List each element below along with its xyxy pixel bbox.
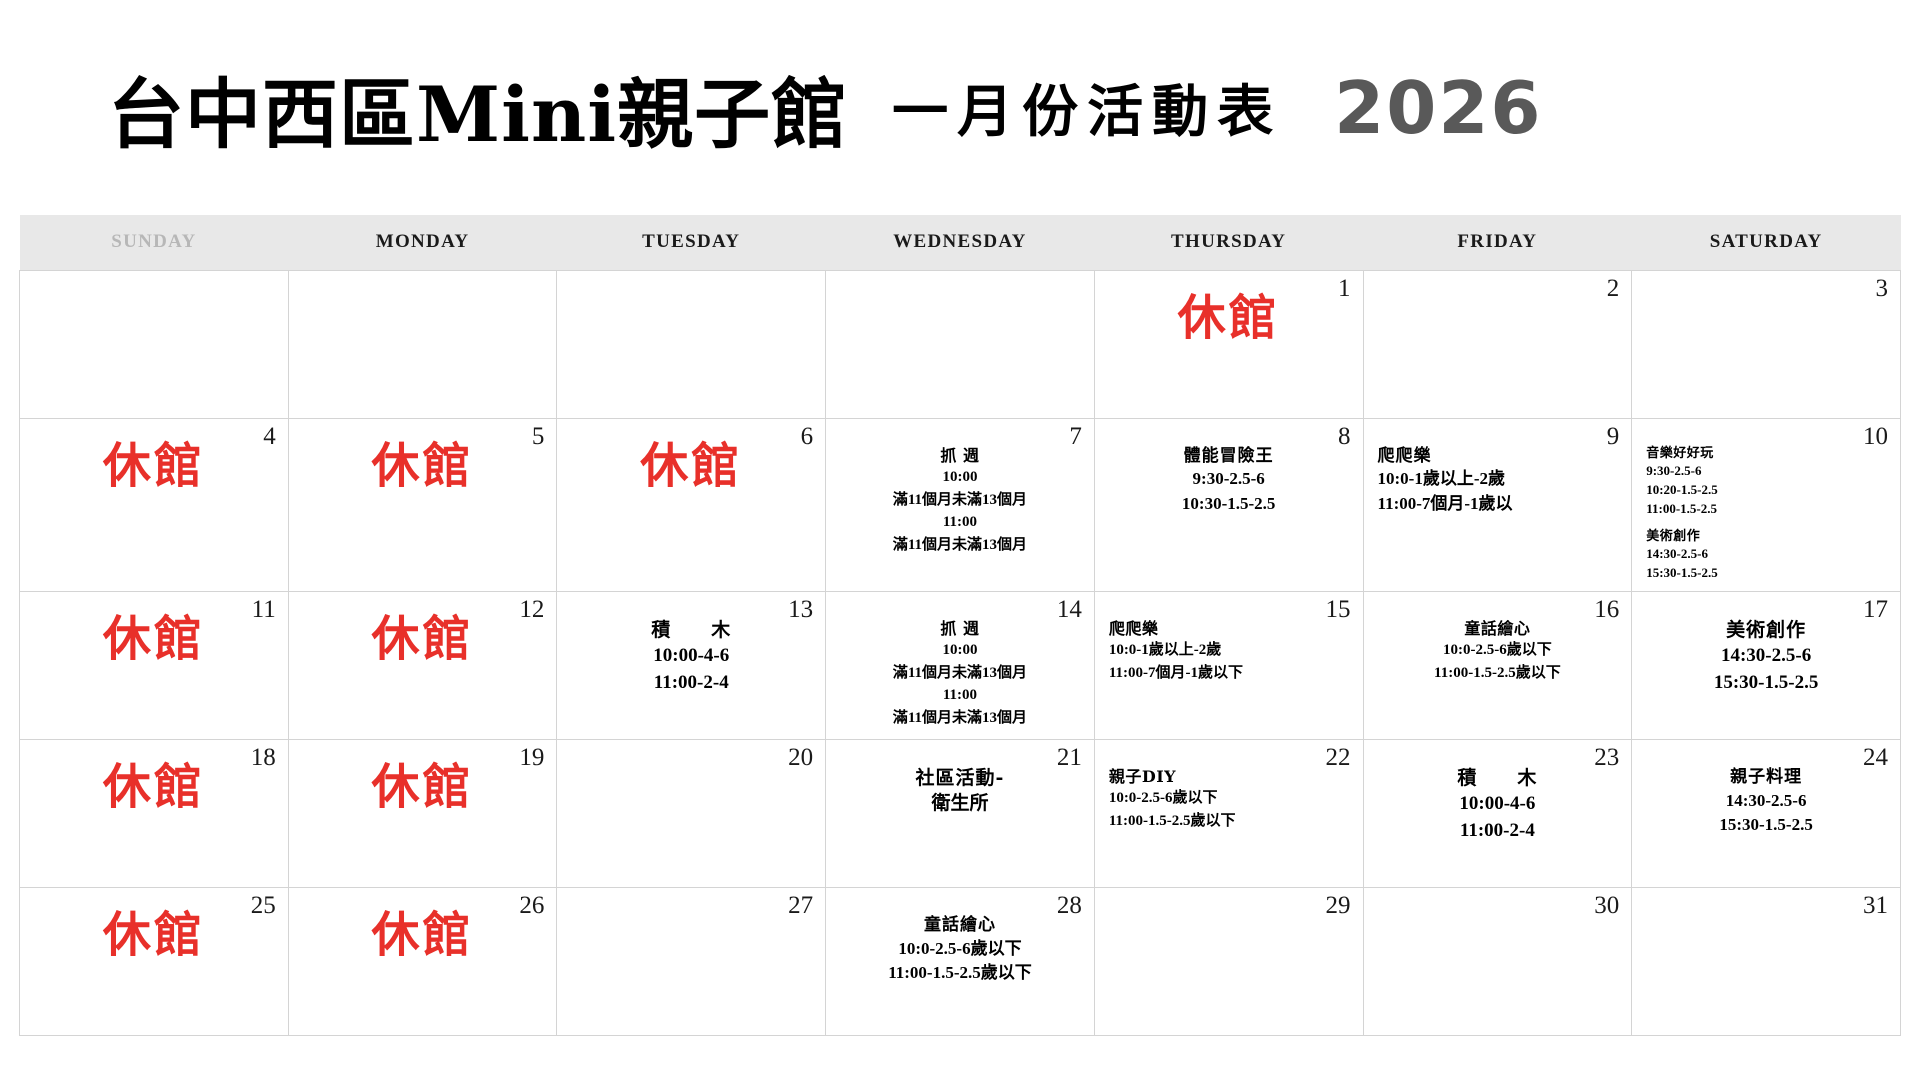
day-events: 抓 週10:00滿11個月未滿13個月11:00滿11個月未滿13個月 xyxy=(826,419,1094,565)
day-number: 17 xyxy=(1863,596,1888,624)
event-detail-line: 10:0-2.5-6歲以下 xyxy=(834,937,1086,962)
closed-label: 休館 xyxy=(289,740,557,812)
event-block[interactable]: 美術創作14:30-2.5-615:30-1.5-2.5 xyxy=(1640,618,1892,698)
event-detail-line: 14:30-2.5-6 xyxy=(1640,789,1892,814)
event-block[interactable]: 親子料理14:30-2.5-615:30-1.5-2.5 xyxy=(1640,766,1892,838)
calendar-day-cell-empty[interactable] xyxy=(826,270,1095,418)
event-title: 親子料理 xyxy=(1640,766,1892,789)
day-number: 28 xyxy=(1057,892,1082,920)
event-block[interactable]: 抓 週10:00滿11個月未滿13個月11:00滿11個月未滿13個月 xyxy=(834,445,1086,557)
day-events: 親子料理14:30-2.5-615:30-1.5-2.5 xyxy=(1632,740,1900,846)
calendar-day-cell-8[interactable]: 8體能冒險王9:30-2.5-610:30-1.5-2.5 xyxy=(1094,418,1363,591)
calendar-week-row: 25休館26休館2728童話繪心10:0-2.5-6歲以下11:00-1.5-2… xyxy=(20,887,1901,1035)
weekday-header-friday: FRIDAY xyxy=(1363,215,1632,270)
calendar-day-cell-empty[interactable] xyxy=(288,270,557,418)
event-detail-line: 10:0-2.5-6歲以下 xyxy=(1109,787,1355,810)
event-block[interactable]: 音樂好好玩9:30-2.5-610:20-1.5-2.511:00-1.5-2.… xyxy=(1646,445,1892,519)
calendar-day-cell-10[interactable]: 10音樂好好玩9:30-2.5-610:20-1.5-2.511:00-1.5-… xyxy=(1632,418,1901,591)
calendar-week-row: 4休館5休館6休館7抓 週10:00滿11個月未滿13個月11:00滿11個月未… xyxy=(20,418,1901,591)
event-title: 社區活動- xyxy=(834,766,1086,792)
event-detail-line: 10:00 xyxy=(834,466,1086,489)
event-detail-line: 衛生所 xyxy=(834,791,1086,818)
event-title: 積 木 xyxy=(565,618,817,644)
calendar-day-cell-5[interactable]: 5休館 xyxy=(288,418,557,591)
day-events: 親子DIY10:0-2.5-6歲以下11:00-1.5-2.5歲以下 xyxy=(1095,740,1363,841)
day-events: 積 木10:00-4-611:00-2-4 xyxy=(1364,740,1632,854)
event-detail-line: 9:30-2.5-6 xyxy=(1646,462,1892,481)
day-number: 22 xyxy=(1326,744,1351,772)
event-title: 爬爬樂 xyxy=(1109,618,1355,640)
calendar-page: 台中西區Mini親子館 一月份活動表 2026 SUNDAYMONDAYTUES… xyxy=(0,0,1920,1080)
weekday-header-row: SUNDAYMONDAYTUESDAYWEDNESDAYTHURSDAYFRID… xyxy=(20,215,1901,270)
weekday-header-tuesday: TUESDAY xyxy=(557,215,826,270)
calendar-day-cell-18[interactable]: 18休館 xyxy=(20,739,289,887)
event-detail-line: 15:30-1.5-2.5 xyxy=(1640,670,1892,697)
event-block[interactable]: 美術創作14:30-2.5-615:30-1.5-2.5 xyxy=(1646,528,1892,583)
calendar-day-cell-14[interactable]: 14抓 週10:00滿11個月未滿13個月11:00滿11個月未滿13個月 xyxy=(826,591,1095,739)
calendar-day-cell-28[interactable]: 28童話繪心10:0-2.5-6歲以下11:00-1.5-2.5歲以下 xyxy=(826,887,1095,1035)
event-title: 童話繪心 xyxy=(834,914,1086,937)
day-events: 積 木10:00-4-611:00-2-4 xyxy=(557,592,825,706)
event-detail-line: 11:00-2-4 xyxy=(565,670,817,697)
event-detail-line: 10:00 xyxy=(834,639,1086,662)
day-number: 19 xyxy=(519,744,544,772)
weekday-header-saturday: SATURDAY xyxy=(1632,215,1901,270)
day-events: 抓 週10:00滿11個月未滿13個月11:00滿11個月未滿13個月 xyxy=(826,592,1094,738)
event-title: 抓 週 xyxy=(834,445,1086,467)
day-number: 13 xyxy=(788,596,813,624)
calendar-week-row: 1休館23 xyxy=(20,270,1901,418)
day-events: 社區活動-衛生所 xyxy=(826,740,1094,827)
calendar-day-cell-16[interactable]: 16童話繪心10:0-2.5-6歲以下11:00-1.5-2.5歲以下 xyxy=(1363,591,1632,739)
day-number: 25 xyxy=(251,892,276,920)
closed-label: 休館 xyxy=(20,740,288,812)
calendar-day-cell-15[interactable]: 15爬爬樂10:0-1歲以上-2歲11:00-7個月-1歲以下 xyxy=(1094,591,1363,739)
event-block[interactable]: 爬爬樂10:0-1歲以上-2歲11:00-7個月-1歲以下 xyxy=(1109,618,1355,685)
day-events: 童話繪心10:0-2.5-6歲以下11:00-1.5-2.5歲以下 xyxy=(1364,592,1632,693)
day-number: 27 xyxy=(788,892,813,920)
weekday-header-wednesday: WEDNESDAY xyxy=(826,215,1095,270)
calendar-day-cell-23[interactable]: 23積 木10:00-4-611:00-2-4 xyxy=(1363,739,1632,887)
event-spacer xyxy=(1646,521,1892,528)
event-detail-line: 11:00-1.5-2.5歲以下 xyxy=(1109,810,1355,833)
day-number: 30 xyxy=(1594,892,1619,920)
closed-label: 休館 xyxy=(289,419,557,491)
event-detail-line: 9:30-2.5-6 xyxy=(1103,467,1355,492)
calendar-day-cell-24[interactable]: 24親子料理14:30-2.5-615:30-1.5-2.5 xyxy=(1632,739,1901,887)
event-block[interactable]: 爬爬樂10:0-1歲以上-2歲11:00-7個月-1歲以 xyxy=(1378,445,1624,517)
day-number: 14 xyxy=(1057,596,1082,624)
calendar-day-cell-13[interactable]: 13積 木10:00-4-611:00-2-4 xyxy=(557,591,826,739)
calendar-week-row: 18休館19休館2021社區活動-衛生所22親子DIY10:0-2.5-6歲以下… xyxy=(20,739,1901,887)
event-title: 親子DIY xyxy=(1109,766,1355,788)
event-detail-line: 14:30-2.5-6 xyxy=(1646,545,1892,564)
calendar-day-cell-1[interactable]: 1休館 xyxy=(1094,270,1363,418)
event-detail-line: 滿11個月未滿13個月 xyxy=(834,534,1086,557)
calendar-day-cell-9[interactable]: 9爬爬樂10:0-1歲以上-2歲11:00-7個月-1歲以 xyxy=(1363,418,1632,591)
closed-label: 休館 xyxy=(20,419,288,491)
calendar-day-cell-11[interactable]: 11休館 xyxy=(20,591,289,739)
day-number: 6 xyxy=(801,423,814,451)
calendar-day-cell-empty[interactable] xyxy=(557,270,826,418)
day-number: 31 xyxy=(1863,892,1888,920)
calendar-day-cell-6[interactable]: 6休館 xyxy=(557,418,826,591)
event-block[interactable]: 童話繪心10:0-2.5-6歲以下11:00-1.5-2.5歲以下 xyxy=(834,914,1086,986)
weekday-header-sunday: SUNDAY xyxy=(20,215,289,270)
closed-label: 休館 xyxy=(557,419,825,491)
event-detail-line: 10:30-1.5-2.5 xyxy=(1103,492,1355,517)
weekday-header-monday: MONDAY xyxy=(288,215,557,270)
day-number: 12 xyxy=(519,596,544,624)
event-block[interactable]: 體能冒險王9:30-2.5-610:30-1.5-2.5 xyxy=(1103,445,1355,517)
event-detail-line: 11:00 xyxy=(834,511,1086,534)
day-number: 24 xyxy=(1863,744,1888,772)
calendar-day-cell-2[interactable]: 2 xyxy=(1363,270,1632,418)
page-title-year: 2026 xyxy=(1334,66,1542,150)
calendar-day-cell-30[interactable]: 30 xyxy=(1363,887,1632,1035)
day-number: 10 xyxy=(1863,423,1888,451)
calendar-day-cell-26[interactable]: 26休館 xyxy=(288,887,557,1035)
day-number: 9 xyxy=(1607,423,1620,451)
event-detail-line: 滿11個月未滿13個月 xyxy=(834,662,1086,685)
calendar-day-cell-31[interactable]: 31 xyxy=(1632,887,1901,1035)
calendar-day-cell-7[interactable]: 7抓 週10:00滿11個月未滿13個月11:00滿11個月未滿13個月 xyxy=(826,418,1095,591)
event-detail-line: 10:0-1歲以上-2歲 xyxy=(1378,467,1624,492)
calendar-body: 1休館234休館5休館6休館7抓 週10:00滿11個月未滿13個月11:00滿… xyxy=(20,270,1901,1035)
event-title: 體能冒險王 xyxy=(1103,445,1355,468)
event-block[interactable]: 積 木10:00-4-611:00-2-4 xyxy=(1372,766,1624,846)
day-number: 18 xyxy=(251,744,276,772)
event-title: 美術創作 xyxy=(1640,618,1892,644)
event-detail-line: 11:00 xyxy=(834,684,1086,707)
day-number: 4 xyxy=(263,423,276,451)
day-number: 21 xyxy=(1057,744,1082,772)
day-number: 15 xyxy=(1326,596,1351,624)
page-title-main: 台中西區Mini親子館 xyxy=(108,53,848,163)
weekday-header-thursday: THURSDAY xyxy=(1094,215,1363,270)
calendar-day-cell-empty[interactable] xyxy=(20,270,289,418)
month-calendar: SUNDAYMONDAYTUESDAYWEDNESDAYTHURSDAYFRID… xyxy=(19,215,1901,1036)
calendar-day-cell-22[interactable]: 22親子DIY10:0-2.5-6歲以下11:00-1.5-2.5歲以下 xyxy=(1094,739,1363,887)
event-detail-line: 滿11個月未滿13個月 xyxy=(834,489,1086,512)
event-detail-line: 14:30-2.5-6 xyxy=(1640,643,1892,670)
calendar-day-cell-25[interactable]: 25休館 xyxy=(20,887,289,1035)
event-detail-line: 滿11個月未滿13個月 xyxy=(834,707,1086,730)
calendar-day-cell-27[interactable]: 27 xyxy=(557,887,826,1035)
day-number: 7 xyxy=(1069,423,1082,451)
calendar-day-cell-3[interactable]: 3 xyxy=(1632,270,1901,418)
day-events: 體能冒險王9:30-2.5-610:30-1.5-2.5 xyxy=(1095,419,1363,525)
event-detail-line: 10:20-1.5-2.5 xyxy=(1646,481,1892,500)
day-events: 爬爬樂10:0-1歲以上-2歲11:00-7個月-1歲以 xyxy=(1364,419,1632,525)
closed-label: 休館 xyxy=(1095,271,1363,343)
event-detail-line: 10:0-2.5-6歲以下 xyxy=(1372,639,1624,662)
page-header: 台中西區Mini親子館 一月份活動表 2026 xyxy=(0,0,1920,215)
day-events: 音樂好好玩9:30-2.5-610:20-1.5-2.511:00-1.5-2.… xyxy=(1632,419,1900,591)
calendar-day-cell-29[interactable]: 29 xyxy=(1094,887,1363,1035)
event-detail-line: 15:30-1.5-2.5 xyxy=(1640,813,1892,838)
event-block[interactable]: 社區活動-衛生所 xyxy=(834,766,1086,819)
day-number: 29 xyxy=(1326,892,1351,920)
closed-label: 休館 xyxy=(20,888,288,960)
event-title: 童話繪心 xyxy=(1372,618,1624,640)
day-number: 3 xyxy=(1876,275,1889,303)
event-detail-line: 15:30-1.5-2.5 xyxy=(1646,564,1892,583)
calendar-day-cell-19[interactable]: 19休館 xyxy=(288,739,557,887)
day-events: 美術創作14:30-2.5-615:30-1.5-2.5 xyxy=(1632,592,1900,706)
calendar-day-cell-17[interactable]: 17美術創作14:30-2.5-615:30-1.5-2.5 xyxy=(1632,591,1901,739)
event-detail-line: 10:00-4-6 xyxy=(1372,791,1624,818)
event-detail-line: 11:00-7個月-1歲以下 xyxy=(1109,662,1355,685)
day-number: 23 xyxy=(1594,744,1619,772)
day-number: 20 xyxy=(788,744,813,772)
calendar-day-cell-12[interactable]: 12休館 xyxy=(288,591,557,739)
event-title: 積 木 xyxy=(1372,766,1624,792)
event-title: 音樂好好玩 xyxy=(1646,445,1892,463)
event-detail-line: 11:00-1.5-2.5歲以下 xyxy=(834,961,1086,986)
page-title-subtitle: 一月份活動表 xyxy=(892,67,1282,148)
closed-label: 休館 xyxy=(20,592,288,664)
event-title: 抓 週 xyxy=(834,618,1086,640)
calendar-week-row: 11休館12休館13積 木10:00-4-611:00-2-414抓 週10:0… xyxy=(20,591,1901,739)
day-number: 1 xyxy=(1338,275,1351,303)
event-block[interactable]: 親子DIY10:0-2.5-6歲以下11:00-1.5-2.5歲以下 xyxy=(1109,766,1355,833)
event-detail-line: 10:0-1歲以上-2歲 xyxy=(1109,639,1355,662)
day-events: 童話繪心10:0-2.5-6歲以下11:00-1.5-2.5歲以下 xyxy=(826,888,1094,994)
day-number: 8 xyxy=(1338,423,1351,451)
calendar-day-cell-4[interactable]: 4休館 xyxy=(20,418,289,591)
closed-label: 休館 xyxy=(289,888,557,960)
event-detail-line: 11:00-1.5-2.5 xyxy=(1646,500,1892,519)
day-number: 26 xyxy=(519,892,544,920)
event-title: 爬爬樂 xyxy=(1378,445,1624,468)
day-events: 爬爬樂10:0-1歲以上-2歲11:00-7個月-1歲以下 xyxy=(1095,592,1363,693)
day-number: 16 xyxy=(1594,596,1619,624)
event-block[interactable]: 抓 週10:00滿11個月未滿13個月11:00滿11個月未滿13個月 xyxy=(834,618,1086,730)
event-block[interactable]: 童話繪心10:0-2.5-6歲以下11:00-1.5-2.5歲以下 xyxy=(1372,618,1624,685)
event-title: 美術創作 xyxy=(1646,528,1892,546)
day-number: 2 xyxy=(1607,275,1620,303)
calendar-day-cell-20[interactable]: 20 xyxy=(557,739,826,887)
day-number: 11 xyxy=(252,596,276,624)
event-block[interactable]: 積 木10:00-4-611:00-2-4 xyxy=(565,618,817,698)
calendar-day-cell-21[interactable]: 21社區活動-衛生所 xyxy=(826,739,1095,887)
event-detail-line: 11:00-1.5-2.5歲以下 xyxy=(1372,662,1624,685)
event-detail-line: 11:00-7個月-1歲以 xyxy=(1378,492,1624,517)
event-detail-line: 11:00-2-4 xyxy=(1372,818,1624,845)
day-number: 5 xyxy=(532,423,545,451)
event-detail-line: 10:00-4-6 xyxy=(565,643,817,670)
closed-label: 休館 xyxy=(289,592,557,664)
